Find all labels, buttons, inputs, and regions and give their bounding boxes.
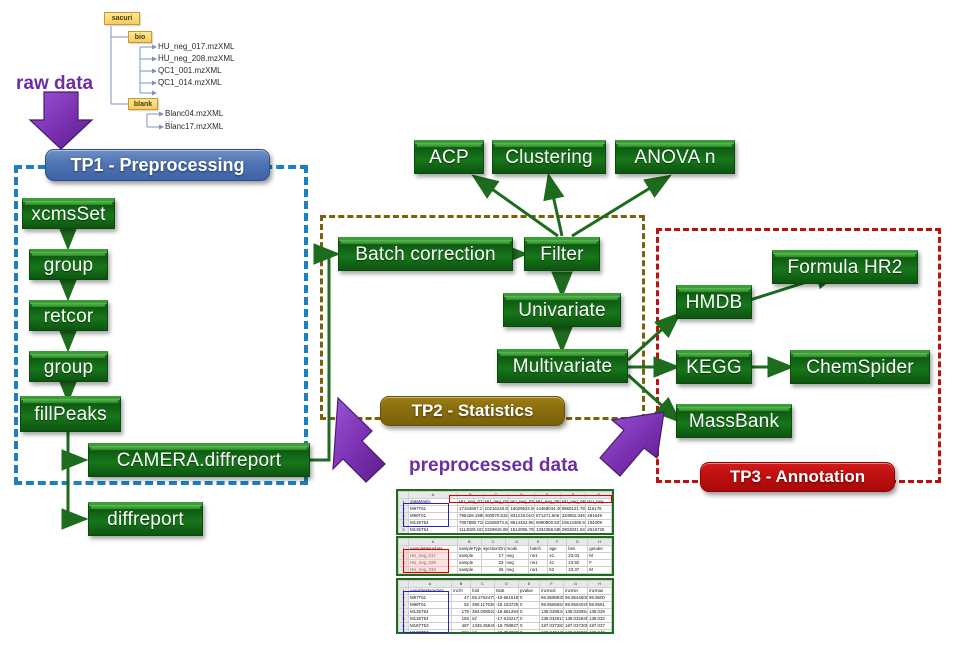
table-row[interactable]: 3 HU_neg_028 sample 23 neg ne1 41 23.92 … bbox=[399, 560, 612, 567]
col-letter: H bbox=[588, 581, 612, 588]
cell[interactable]: 98.9555651 bbox=[540, 602, 564, 609]
cell[interactable]: 41 bbox=[548, 560, 567, 567]
cell[interactable]: HU_neg_028 bbox=[409, 560, 458, 567]
cell[interactable]: 188.0404496 bbox=[540, 630, 564, 635]
row-number: 3 bbox=[399, 560, 409, 567]
cell[interactable]: 96.9600 bbox=[588, 595, 612, 602]
cell[interactable]: 188.0403673 bbox=[564, 630, 588, 635]
cell[interactable]: 188.040 bbox=[588, 630, 612, 635]
row-number: 3 bbox=[399, 513, 409, 520]
node-diffreport[interactable]: diffreport bbox=[88, 502, 203, 536]
col-letter: B bbox=[458, 539, 482, 546]
cell[interactable]: fold bbox=[471, 588, 495, 595]
cell[interactable]: 481649 bbox=[586, 513, 612, 520]
row-number: 1 bbox=[399, 588, 409, 595]
node-group-2[interactable]: group bbox=[29, 351, 108, 382]
variable-metadata-table: A B C D E F G H 1 variableMetadata mz/rt… bbox=[398, 580, 612, 634]
cell[interactable]: 6990900.537 bbox=[534, 520, 560, 527]
cell[interactable]: 69.27624774 bbox=[471, 595, 495, 602]
cell[interactable]: 487 bbox=[452, 623, 471, 630]
cell[interactable]: 23 bbox=[481, 560, 505, 567]
data-matrix-body: A B C D E F G 1 dataMatrix HU_neg_017 HU… bbox=[399, 492, 612, 534]
table-row[interactable]: 4 HU_neg_034 sample 26 neg ne1 52 23.37 … bbox=[399, 567, 612, 574]
cell[interactable]: bmi bbox=[567, 546, 588, 553]
table-row[interactable]: 1 variableMetadata mz/rt fold tstat pval… bbox=[399, 588, 612, 595]
row-number: 4 bbox=[399, 609, 409, 616]
banner-tp2-statistics[interactable]: TP2 - Statistics bbox=[380, 396, 565, 426]
cell[interactable]: 40 bbox=[481, 574, 505, 577]
cell[interactable]: neg bbox=[505, 560, 529, 567]
corner-cell bbox=[399, 492, 409, 499]
col-letter: B bbox=[458, 492, 484, 499]
cell[interactable]: 96.9544608 bbox=[564, 595, 588, 602]
table-row[interactable]: 1 dataMatrix HU_neg_017 HU_neg_028 HU_ne… bbox=[399, 499, 612, 506]
cell[interactable]: 795428.1989 bbox=[458, 513, 484, 520]
col-letter: E bbox=[534, 492, 560, 499]
node-formula-hr2[interactable]: Formula HR2 bbox=[772, 250, 918, 284]
cell[interactable]: 135.0296344 bbox=[540, 609, 564, 616]
node-multivariate[interactable]: Multivariate bbox=[497, 349, 628, 383]
tree-folder-bio[interactable]: bio bbox=[128, 31, 152, 43]
cell[interactable]: neg bbox=[505, 553, 529, 560]
cell[interactable]: 187.0373874 bbox=[540, 623, 564, 630]
cell[interactable]: 179 bbox=[452, 609, 471, 616]
cell[interactable]: 0 bbox=[519, 623, 540, 630]
col-letter: F bbox=[560, 492, 586, 499]
banner-tp3-annotation[interactable]: TP3 - Annotation bbox=[700, 462, 895, 492]
cell[interactable]: 17153667.17 bbox=[458, 506, 484, 513]
node-retcor[interactable]: retcor bbox=[29, 300, 108, 331]
table-row[interactable]: 4 M135T54 179 394.008022 -18.58129475 0 … bbox=[399, 609, 612, 616]
cell[interactable]: injectionOrder bbox=[481, 546, 505, 553]
cell[interactable]: 23.92 bbox=[567, 560, 588, 567]
cell[interactable]: 136.0329175 bbox=[540, 616, 564, 623]
cell[interactable]: mzmed bbox=[540, 588, 564, 595]
tree-file[interactable]: HU_neg_017.mzXML bbox=[158, 42, 234, 51]
col-letter: D bbox=[495, 581, 519, 588]
col-letter: E bbox=[519, 581, 540, 588]
cell[interactable]: 21.23 bbox=[567, 574, 588, 577]
column-letters-row: A B C D E F G bbox=[399, 492, 612, 499]
cell[interactable]: HU_neg_017 bbox=[409, 553, 458, 560]
cell[interactable]: 135.0295548 bbox=[564, 609, 588, 616]
cell[interactable]: sample bbox=[458, 553, 482, 560]
cell[interactable]: 10216240.88 bbox=[483, 506, 509, 513]
node-hmdb[interactable]: HMDB bbox=[676, 285, 752, 319]
cell[interactable]: 400570.6324 bbox=[483, 513, 509, 520]
row-number: 1 bbox=[399, 499, 409, 506]
cell[interactable]: 0 bbox=[519, 602, 540, 609]
table-row[interactable]: 5 M136T54 183 inf -17.61021775 0 136.032… bbox=[399, 616, 612, 623]
cell[interactable]: 52 bbox=[452, 602, 471, 609]
cell[interactable]: M99T61 bbox=[409, 513, 458, 520]
col-letter: E bbox=[529, 539, 548, 546]
col-letter: G bbox=[586, 492, 612, 499]
table-row[interactable]: 5 HU_neg_051 sample 40 neg ne1 36 21.23 … bbox=[399, 574, 612, 577]
table-row[interactable]: 2 M97T61 17153667.17 10216240.88 1602952… bbox=[399, 506, 612, 513]
cell[interactable]: M bbox=[588, 553, 612, 560]
cell[interactable]: mz/rt bbox=[452, 588, 471, 595]
cell[interactable]: sampleType bbox=[458, 546, 482, 553]
cell[interactable]: HU_neg_060 bbox=[560, 499, 586, 506]
corner-cell bbox=[399, 539, 409, 546]
table-row[interactable]: 3 M99T61 52 390.1176385 -18.1537251 0 98… bbox=[399, 602, 612, 609]
cell[interactable]: 504 bbox=[452, 630, 471, 635]
raw-data-label: raw data bbox=[16, 73, 93, 95]
cell[interactable]: neg bbox=[505, 567, 529, 574]
node-univariate[interactable]: Univariate bbox=[503, 293, 621, 327]
cell[interactable]: neg bbox=[505, 574, 529, 577]
cell[interactable]: 1114029.1632 bbox=[458, 527, 484, 534]
cell[interactable]: HU_neg_034 bbox=[409, 567, 458, 574]
cell[interactable]: mode bbox=[505, 546, 529, 553]
cell[interactable]: HU_neg bbox=[586, 499, 612, 506]
cell[interactable]: 183 bbox=[452, 616, 471, 623]
cell[interactable]: ne1 bbox=[529, 560, 548, 567]
cell[interactable]: gender bbox=[588, 546, 612, 553]
node-camera-diffreport[interactable]: CAMERA.diffreport bbox=[88, 443, 310, 477]
cell[interactable]: -18.58129475 bbox=[495, 609, 519, 616]
row-number: 2 bbox=[399, 506, 409, 513]
cell[interactable]: 15613480.95 bbox=[560, 520, 586, 527]
preprocessed-data-label: preprocessed data bbox=[409, 455, 578, 477]
tree-file[interactable]: Blanc17.mzXML bbox=[165, 122, 223, 131]
table-row[interactable]: 2 HU_neg_017 sample 17 neg ne1 41 23.03 … bbox=[399, 553, 612, 560]
col-letter: H bbox=[588, 539, 612, 546]
cell[interactable]: 671471.606 bbox=[534, 513, 560, 520]
cell[interactable]: sample bbox=[458, 567, 482, 574]
cell[interactable]: HU_neg_051 bbox=[534, 499, 560, 506]
sample-metadata-body: A B C D E F G H 1 sampleMetadata sampleT… bbox=[399, 539, 612, 577]
cell[interactable]: 334852.3461 bbox=[560, 513, 586, 520]
cell[interactable]: ne1 bbox=[529, 574, 548, 577]
cell[interactable]: HU_neg_034 bbox=[509, 499, 535, 506]
node-xcmsset[interactable]: xcmsSet bbox=[22, 198, 115, 229]
cell[interactable]: HU_neg_028 bbox=[483, 499, 509, 506]
preprocessed-to-tp3-arrow bbox=[600, 412, 664, 476]
cell[interactable]: 98.9554026 bbox=[564, 602, 588, 609]
col-letter: F bbox=[548, 539, 567, 546]
cell[interactable]: 136.032 bbox=[588, 616, 612, 623]
cell[interactable]: M188T53 bbox=[409, 630, 452, 635]
cell[interactable]: ne1 bbox=[529, 553, 548, 560]
cell[interactable]: M bbox=[588, 567, 612, 574]
cell[interactable]: inf bbox=[471, 616, 495, 623]
cell[interactable]: 1514096.7898 bbox=[509, 527, 535, 534]
sheet-data-matrix[interactable]: A B C D E F G 1 dataMatrix HU_neg_017 HU… bbox=[396, 489, 614, 535]
cell[interactable]: M97T61 bbox=[409, 506, 458, 513]
cell[interactable]: ne1 bbox=[529, 567, 548, 574]
cell[interactable]: 187.0373051 bbox=[564, 623, 588, 630]
table-row[interactable]: 2 M97T61 47 69.27624774 -19.66151855 0 9… bbox=[399, 595, 612, 602]
cell[interactable]: 0 bbox=[519, 616, 540, 623]
corner-cell bbox=[399, 581, 409, 588]
cell[interactable]: F bbox=[588, 560, 612, 567]
col-letter: B bbox=[452, 581, 471, 588]
cell[interactable]: 16029523.86 bbox=[509, 506, 535, 513]
tree-file[interactable]: HU_neg_208.mzXML bbox=[158, 54, 234, 63]
cell[interactable]: 1345.358461 bbox=[471, 623, 495, 630]
cell[interactable]: 26 bbox=[481, 567, 505, 574]
column-letters-row: A B C D E F G H bbox=[399, 581, 612, 588]
col-letter: A bbox=[409, 581, 452, 588]
col-letter: A bbox=[409, 492, 458, 499]
cell[interactable]: 9514452.963 bbox=[509, 520, 535, 527]
cell[interactable]: 96.95989309 96.9544608 bbox=[540, 595, 564, 602]
data-matrix-table: A B C D E F G 1 dataMatrix HU_neg_017 HU… bbox=[398, 491, 612, 534]
cell[interactable]: M135T54 bbox=[409, 609, 452, 616]
cell[interactable]: 187.037 bbox=[588, 623, 612, 630]
row-number: 2 bbox=[399, 553, 409, 560]
cell[interactable]: 23.37 bbox=[567, 567, 588, 574]
raw-data-arrow bbox=[30, 92, 92, 149]
node-filter[interactable]: Filter bbox=[524, 237, 600, 271]
row-number: 4 bbox=[399, 520, 409, 527]
node-acp[interactable]: ACP bbox=[414, 140, 484, 174]
row-number: 3 bbox=[399, 602, 409, 609]
cell[interactable]: 2616726 bbox=[586, 527, 612, 534]
cell[interactable]: mzmin bbox=[564, 588, 588, 595]
cell[interactable]: 394.008022 bbox=[471, 609, 495, 616]
cell[interactable]: 1334359.5896 bbox=[534, 527, 560, 534]
cell[interactable]: M136T54 bbox=[409, 616, 452, 623]
row-number: 2 bbox=[399, 595, 409, 602]
cell[interactable]: variableMetadata bbox=[409, 588, 452, 595]
cell[interactable]: 17 bbox=[481, 553, 505, 560]
cell[interactable]: HU_neg_051 bbox=[409, 574, 458, 577]
col-letter: D bbox=[509, 492, 535, 499]
row-number: 4 bbox=[399, 567, 409, 574]
cell[interactable]: 14468044.45 bbox=[534, 506, 560, 513]
node-clustering[interactable]: Clustering bbox=[492, 140, 606, 174]
workflow-diagram: sacuri bio blank HU_neg_017.mzXML ... HU… bbox=[0, 0, 955, 652]
table-row[interactable]: 1 sampleMetadata sampleType injectionOrd… bbox=[399, 546, 612, 553]
cell[interactable]: sampleMetadata bbox=[409, 546, 458, 553]
sample-metadata-table: A B C D E F G H 1 sampleMetadata sampleT… bbox=[398, 538, 612, 576]
table-row[interactable]: 4 M135T54 7057880.716 11926973.53 951445… bbox=[399, 520, 612, 527]
row-number: 5 bbox=[399, 527, 409, 534]
row-number: 5 bbox=[399, 616, 409, 623]
cell[interactable]: -17.61021775 bbox=[495, 616, 519, 623]
cell[interactable]: 52 bbox=[548, 567, 567, 574]
tree-folder-blank[interactable]: blank bbox=[128, 98, 158, 110]
cell[interactable]: M97T61 bbox=[409, 595, 452, 602]
banner-tp1-preprocessing[interactable]: TP1 - Preprocessing bbox=[45, 149, 270, 181]
cell[interactable]: -19.66151855 bbox=[495, 595, 519, 602]
cell[interactable]: 0 bbox=[519, 630, 540, 635]
node-batch-correction[interactable]: Batch correction bbox=[338, 237, 513, 271]
cell[interactable]: dataMatrix bbox=[409, 499, 458, 506]
node-kegg[interactable]: KEGG bbox=[676, 350, 752, 384]
sheet-sample-metadata[interactable]: A B C D E F G H 1 sampleMetadata sampleT… bbox=[396, 536, 614, 576]
cell[interactable]: 136.0328493 bbox=[564, 616, 588, 623]
node-group-1[interactable]: group bbox=[29, 249, 108, 280]
cell[interactable]: 7057880.716 bbox=[458, 520, 484, 527]
cell[interactable]: M99T61 bbox=[409, 602, 452, 609]
cell[interactable]: 390.1176385 bbox=[471, 602, 495, 609]
node-massbank[interactable]: MassBank bbox=[676, 404, 792, 438]
cell[interactable]: tstat bbox=[495, 588, 519, 595]
column-letters-row: A B C D E F G H bbox=[399, 539, 612, 546]
col-letter: F bbox=[540, 581, 564, 588]
col-letter: C bbox=[483, 492, 509, 499]
col-letter: C bbox=[471, 581, 495, 588]
col-letter: G bbox=[564, 581, 588, 588]
cell[interactable]: age bbox=[548, 546, 567, 553]
cell[interactable]: mzmax bbox=[588, 588, 612, 595]
cell[interactable]: 23.03 bbox=[567, 553, 588, 560]
sheet-variable-metadata[interactable]: A B C D E F G H 1 variableMetadata mz/rt… bbox=[396, 578, 614, 634]
variable-metadata-body: A B C D E F G H 1 variableMetadata mz/rt… bbox=[399, 581, 612, 635]
col-letter: G bbox=[567, 539, 588, 546]
cell[interactable]: 98.9561 bbox=[588, 602, 612, 609]
table-row[interactable]: 5 M136T54 1114029.1632 2329816.8902 1514… bbox=[399, 527, 612, 534]
cell[interactable]: 104009 bbox=[586, 520, 612, 527]
row-number: 7 bbox=[399, 630, 409, 635]
col-letter: C bbox=[481, 539, 505, 546]
cell[interactable]: 2802831.5439 bbox=[560, 527, 586, 534]
cell[interactable]: 0 bbox=[519, 595, 540, 602]
tree-file[interactable]: QC1_001.mzXML bbox=[158, 66, 222, 75]
cell[interactable]: F bbox=[588, 574, 612, 577]
cell[interactable]: 47 bbox=[452, 595, 471, 602]
cell[interactable]: 11926973.53 bbox=[483, 520, 509, 527]
cell[interactable]: 8960121.78 bbox=[560, 506, 586, 513]
node-fillpeaks[interactable]: fillPeaks bbox=[20, 396, 121, 432]
table-row[interactable]: 3 M99T61 795428.1989 400570.6324 831219.… bbox=[399, 513, 612, 520]
table-row[interactable]: 7 M188T53 504 inf -18.7539938 0 188.0404… bbox=[399, 630, 612, 635]
cell[interactable]: M187T53 bbox=[409, 623, 452, 630]
table-row[interactable]: 6 M187T53 487 1345.358461 -19.79892715 0… bbox=[399, 623, 612, 630]
cell[interactable]: pvalue bbox=[519, 588, 540, 595]
tree-file[interactable]: QC1_014.mzXML bbox=[158, 78, 222, 87]
row-number: 5 bbox=[399, 574, 409, 577]
row-number: 6 bbox=[399, 623, 409, 630]
cell[interactable]: 116176 bbox=[586, 506, 612, 513]
cell[interactable]: 135.029 bbox=[588, 609, 612, 616]
col-letter: A bbox=[409, 539, 458, 546]
cell[interactable]: HU_neg_017 bbox=[458, 499, 484, 506]
cell[interactable]: 41 bbox=[548, 553, 567, 560]
node-anova[interactable]: ANOVA n bbox=[615, 140, 735, 174]
cell[interactable]: 831219.0107 bbox=[509, 513, 535, 520]
cell[interactable]: -18.1537251 bbox=[495, 602, 519, 609]
cell[interactable]: inf bbox=[471, 630, 495, 635]
cell[interactable]: batch bbox=[529, 546, 548, 553]
tree-folder-root[interactable]: sacuri bbox=[104, 12, 140, 25]
cell[interactable]: sample bbox=[458, 560, 482, 567]
col-letter: D bbox=[505, 539, 529, 546]
cell[interactable]: -19.79892715 bbox=[495, 623, 519, 630]
cell[interactable]: M135T54 bbox=[409, 520, 458, 527]
cell[interactable]: M136T54 bbox=[409, 527, 458, 534]
cell[interactable]: 36 bbox=[548, 574, 567, 577]
row-number: 1 bbox=[399, 546, 409, 553]
cell[interactable]: sample bbox=[458, 574, 482, 577]
cell[interactable]: 0 bbox=[519, 609, 540, 616]
cell[interactable]: 2329816.8902 bbox=[483, 527, 509, 534]
cell[interactable]: -18.7539938 bbox=[495, 630, 519, 635]
node-chemspider[interactable]: ChemSpider bbox=[790, 350, 930, 384]
